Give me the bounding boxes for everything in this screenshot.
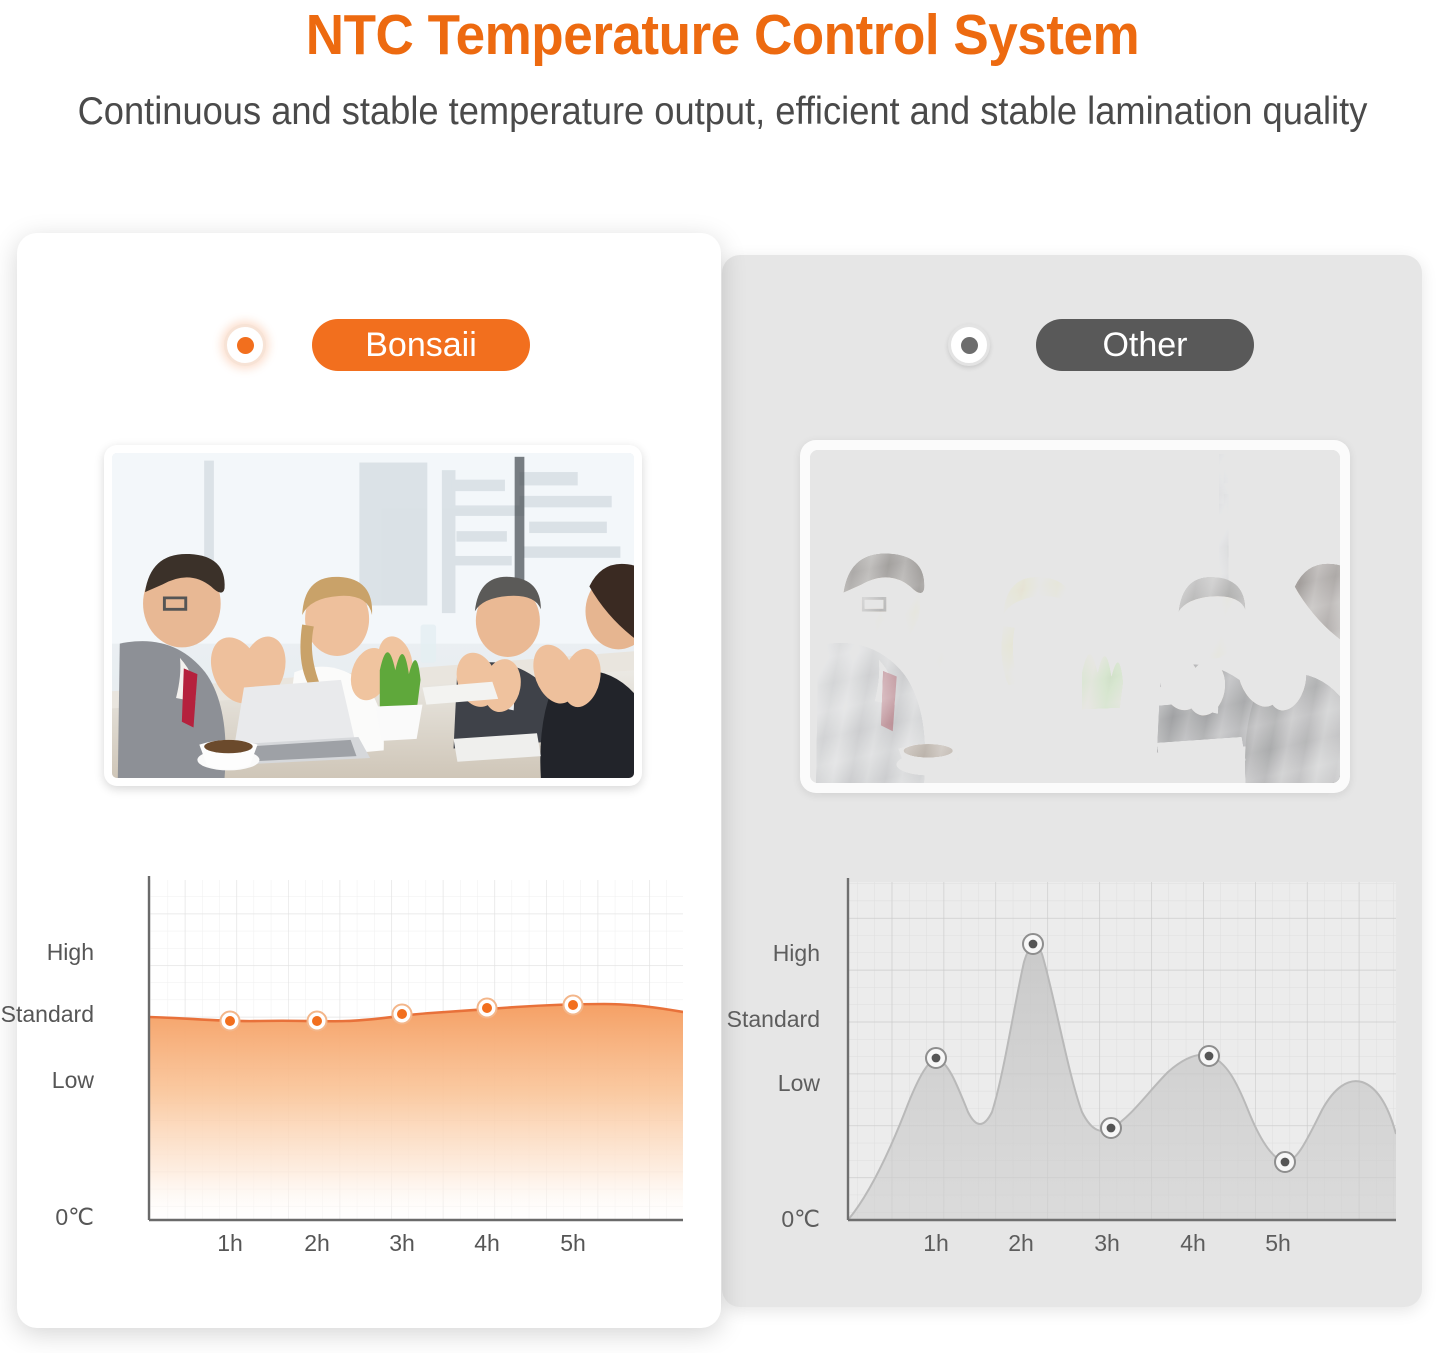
bonsaii-xtick-4h: 4h bbox=[459, 1230, 515, 1257]
meeting-photo-illustration-faded bbox=[810, 450, 1340, 783]
other-xtick-4h: 4h bbox=[1165, 1230, 1221, 1257]
bonsaii-xtick-2h: 2h bbox=[289, 1230, 345, 1257]
photo-image bbox=[112, 453, 634, 778]
page-subtitle: Continuous and stable temperature output… bbox=[51, 86, 1395, 138]
bonsaii-temperature-chart: High Standard Low 0℃ 1h 2h 3h 4h 5h bbox=[30, 862, 690, 1262]
bonsaii-selector[interactable]: Bonsaii bbox=[224, 319, 530, 371]
other-chart-svg bbox=[736, 866, 1408, 1266]
other-xtick-5h: 5h bbox=[1250, 1230, 1306, 1257]
meeting-photo-illustration bbox=[112, 453, 634, 778]
page-root: NTC Temperature Control System Continuou… bbox=[0, 0, 1445, 1353]
other-ytick-standard: Standard bbox=[660, 1006, 820, 1033]
radio-selected-gray-icon[interactable] bbox=[948, 324, 990, 366]
bonsaii-xtick-3h: 3h bbox=[374, 1230, 430, 1257]
other-selector[interactable]: Other bbox=[948, 319, 1254, 371]
other-xtick-2h: 2h bbox=[993, 1230, 1049, 1257]
radio-dot-icon bbox=[961, 337, 978, 354]
other-ytick-low: Low bbox=[700, 1070, 820, 1097]
other-laminated-photo bbox=[800, 440, 1350, 793]
bonsaii-ytick-standard: Standard bbox=[0, 1001, 94, 1028]
bonsaii-area-fill bbox=[149, 1004, 683, 1220]
other-xtick-3h: 3h bbox=[1079, 1230, 1135, 1257]
bonsaii-laminated-photo bbox=[104, 445, 642, 786]
bonsaii-brand-pill[interactable]: Bonsaii bbox=[312, 319, 530, 371]
other-brand-pill[interactable]: Other bbox=[1036, 319, 1254, 371]
photo-image bbox=[810, 450, 1340, 783]
other-ytick-zero: 0℃ bbox=[700, 1206, 820, 1233]
page-title: NTC Temperature Control System bbox=[51, 2, 1395, 68]
bonsaii-ytick-high: High bbox=[0, 939, 94, 966]
radio-dot-icon bbox=[237, 337, 254, 354]
bonsaii-ytick-zero: 0℃ bbox=[0, 1204, 94, 1231]
other-brand-label: Other bbox=[1102, 326, 1187, 365]
other-ytick-high: High bbox=[700, 940, 820, 967]
bonsaii-xtick-1h: 1h bbox=[202, 1230, 258, 1257]
bonsaii-ytick-low: Low bbox=[0, 1067, 94, 1094]
other-xtick-1h: 1h bbox=[908, 1230, 964, 1257]
bonsaii-xtick-5h: 5h bbox=[545, 1230, 601, 1257]
bonsaii-brand-label: Bonsaii bbox=[365, 326, 477, 365]
other-temperature-chart: High Standard Low 0℃ 1h 2h 3h 4h 5h bbox=[736, 866, 1408, 1266]
bonsaii-chart-svg bbox=[30, 862, 690, 1262]
radio-selected-icon[interactable] bbox=[224, 324, 266, 366]
